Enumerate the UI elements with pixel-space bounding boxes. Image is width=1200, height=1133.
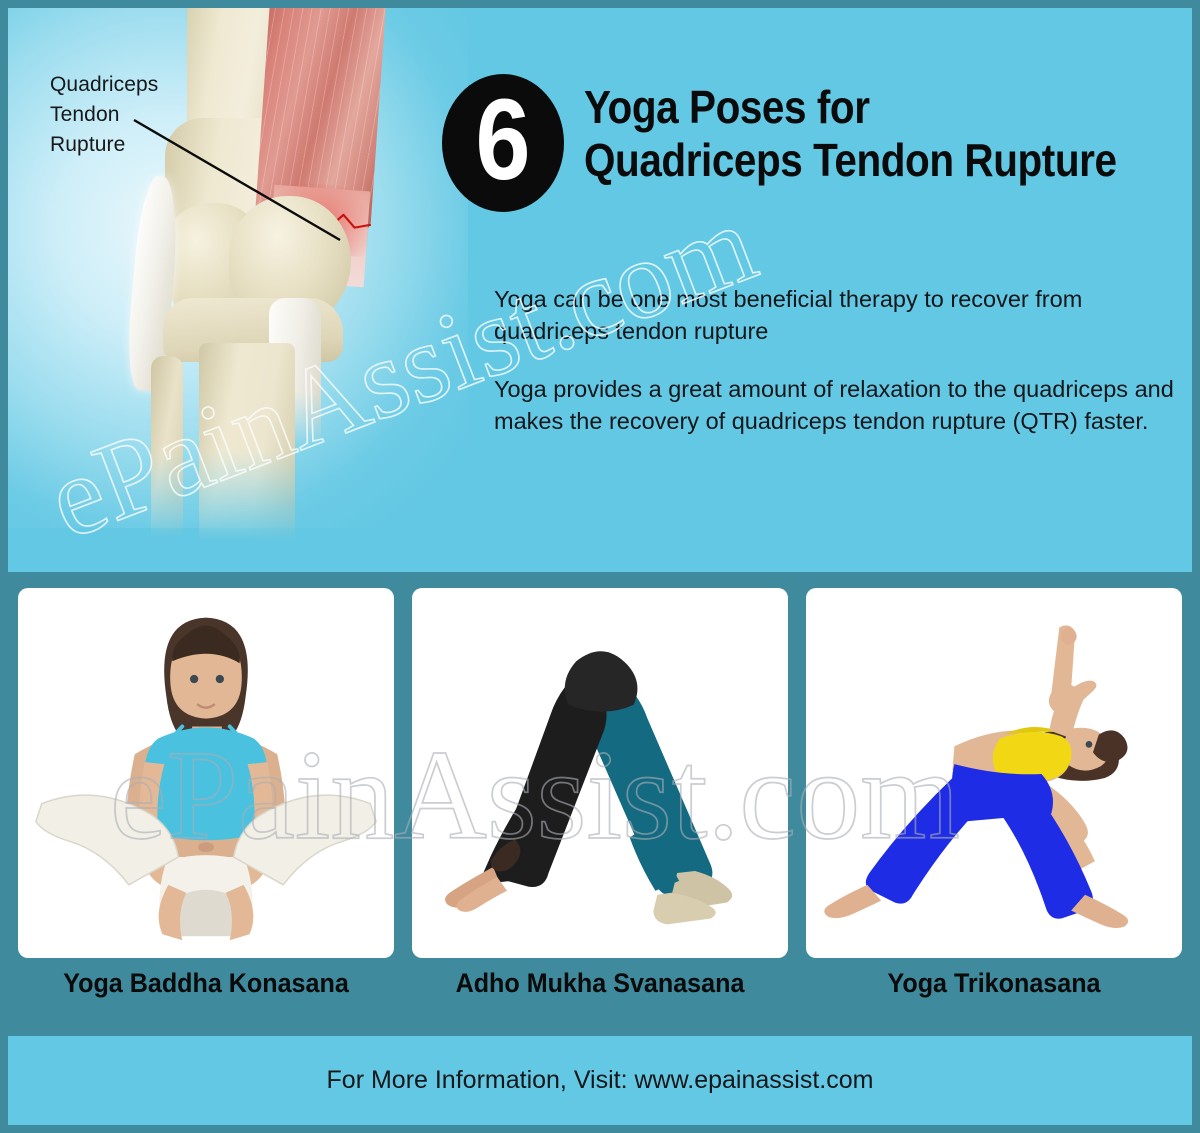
infographic-root: Quadriceps Tendon Rupture ePainAssist.co…	[0, 0, 1200, 1133]
pose-illustration-trikonasana	[806, 588, 1182, 954]
hero-paragraph-1: Yoga can be one most beneficial therapy …	[494, 284, 1184, 348]
pose-count-badge: 6	[442, 74, 564, 212]
annotation-line-3: Rupture	[50, 130, 158, 160]
pose-illustration-adho-mukha-svanasana	[412, 588, 788, 954]
hero-paragraph-2: Yoga provides a great amount of relaxati…	[494, 374, 1184, 438]
pose-card-adho-mukha-svanasana[interactable]	[412, 588, 788, 958]
page-title-line-1: Yoga Poses for	[584, 82, 1117, 133]
title-row: 6 Yoga Poses for Quadriceps Tendon Ruptu…	[442, 64, 1182, 212]
hero-body-text: Yoga can be one most beneficial therapy …	[494, 284, 1184, 438]
pose-caption-3: Yoga Trikonasana	[819, 968, 1169, 999]
pose-caption-1: Yoga Baddha Konasana	[31, 968, 381, 999]
fibula-bone	[151, 356, 183, 546]
annotation-line-1: Quadriceps	[50, 70, 158, 100]
pose-caption-2: Adho Mukha Svanasana	[425, 968, 775, 999]
footer-text: For More Information, Visit: www.epainas…	[327, 1066, 874, 1095]
annotation-line-2: Tendon	[50, 100, 158, 130]
hero-title-block: 6 Yoga Poses for Quadriceps Tendon Ruptu…	[442, 64, 1182, 212]
pose-illustration-baddha-konasana	[18, 588, 394, 954]
pose-card-list	[18, 588, 1182, 958]
poses-band: Yoga Baddha Konasana Adho Mukha Svanasan…	[0, 580, 1200, 1032]
title-lines: Yoga Poses for Quadriceps Tendon Rupture	[584, 64, 1189, 187]
tibia-shaft-bone	[199, 343, 295, 548]
page-title-line-2: Quadriceps Tendon Rupture	[584, 133, 1117, 187]
footer-bar: For More Information, Visit: www.epainas…	[8, 1036, 1192, 1125]
pose-card-trikonasana[interactable]	[806, 588, 1182, 958]
hero-section: Quadriceps Tendon Rupture ePainAssist.co…	[8, 8, 1192, 572]
pose-caption-row: Yoga Baddha Konasana Adho Mukha Svanasan…	[18, 968, 1182, 999]
pose-card-baddha-konasana[interactable]	[18, 588, 394, 958]
pose-count-number: 6	[475, 83, 530, 198]
anatomy-annotation-label: Quadriceps Tendon Rupture	[50, 70, 158, 159]
